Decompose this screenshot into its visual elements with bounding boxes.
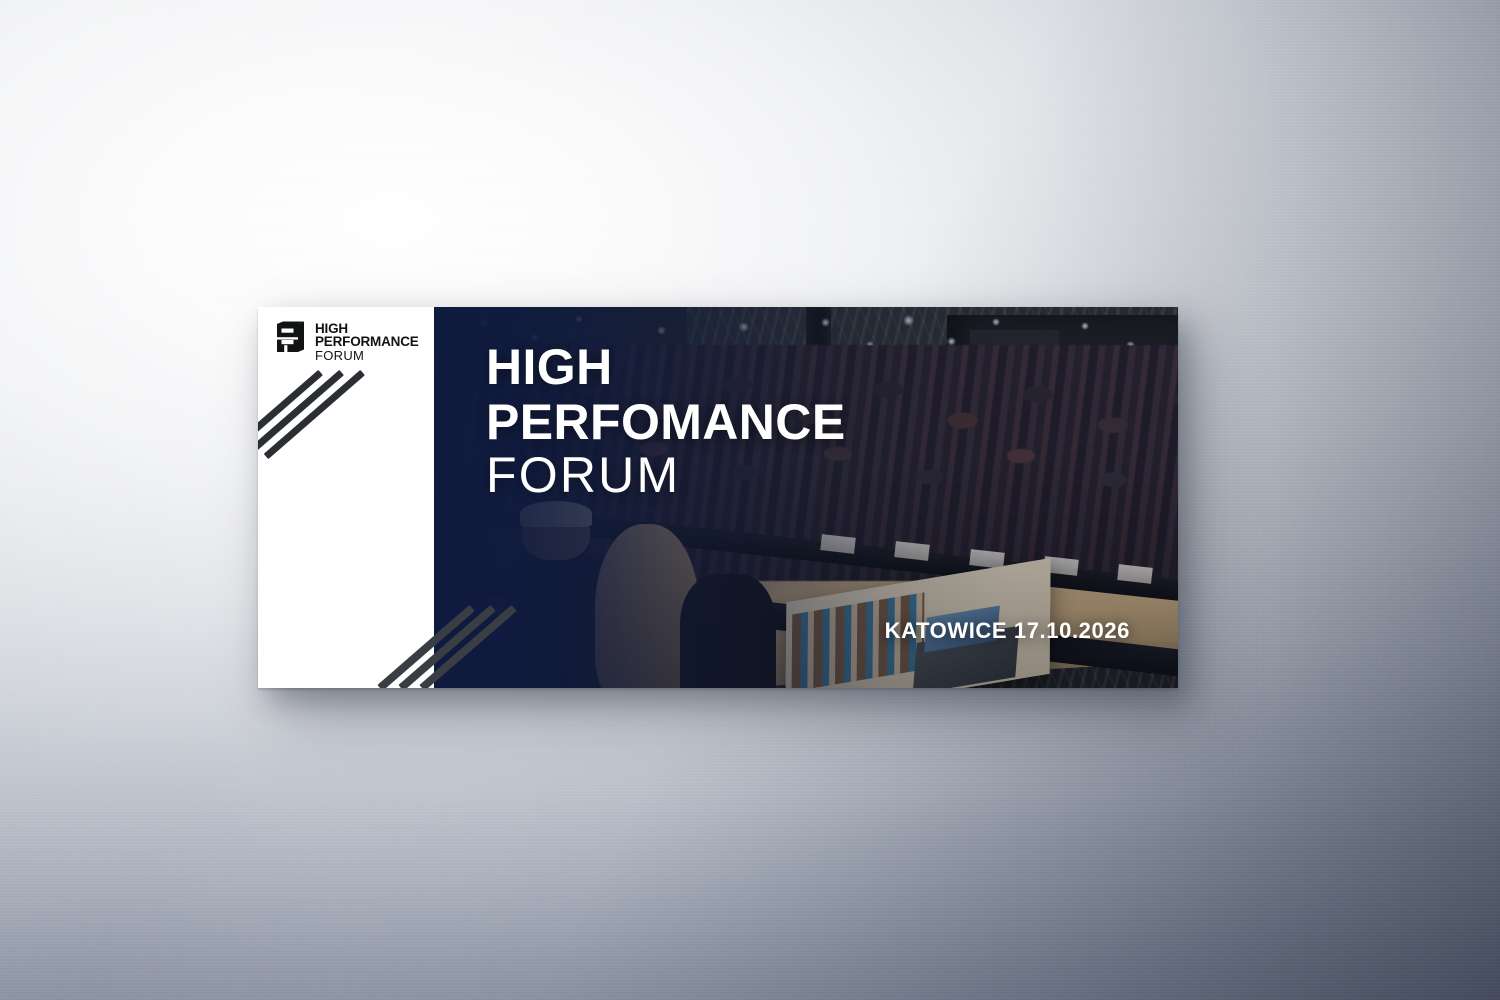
brand-logo-wordmark: HIGH PERFORMANCE FORUM	[315, 321, 419, 363]
headline-line-forum: FORUM	[486, 451, 846, 500]
logo-line-forum: FORUM	[315, 349, 419, 363]
event-banner[interactable]: HIGH PERFORMANCE FORUM	[258, 307, 1178, 688]
banner-photo-panel: HIGH PERFOMANCE FORUM KATOWICE 17.10.202…	[434, 307, 1178, 688]
logo-line-performance: PERFORMANCE	[315, 335, 419, 348]
stripe-top-3	[264, 370, 365, 459]
headline-line-perfomance: PERFOMANCE	[486, 398, 846, 447]
banner-left-white-panel: HIGH PERFORMANCE FORUM	[258, 307, 434, 688]
stripe-top-2	[258, 370, 344, 459]
event-date-location: KATOWICE 17.10.2026	[885, 618, 1130, 644]
stripe-top-1	[258, 370, 323, 459]
diagonal-stripes-top	[258, 357, 398, 467]
hp-monogram-icon	[276, 321, 310, 355]
headline-line-high: HIGH	[486, 343, 846, 392]
brand-logo[interactable]: HIGH PERFORMANCE FORUM	[276, 321, 419, 363]
banner-headline: HIGH PERFOMANCE FORUM	[486, 343, 846, 500]
